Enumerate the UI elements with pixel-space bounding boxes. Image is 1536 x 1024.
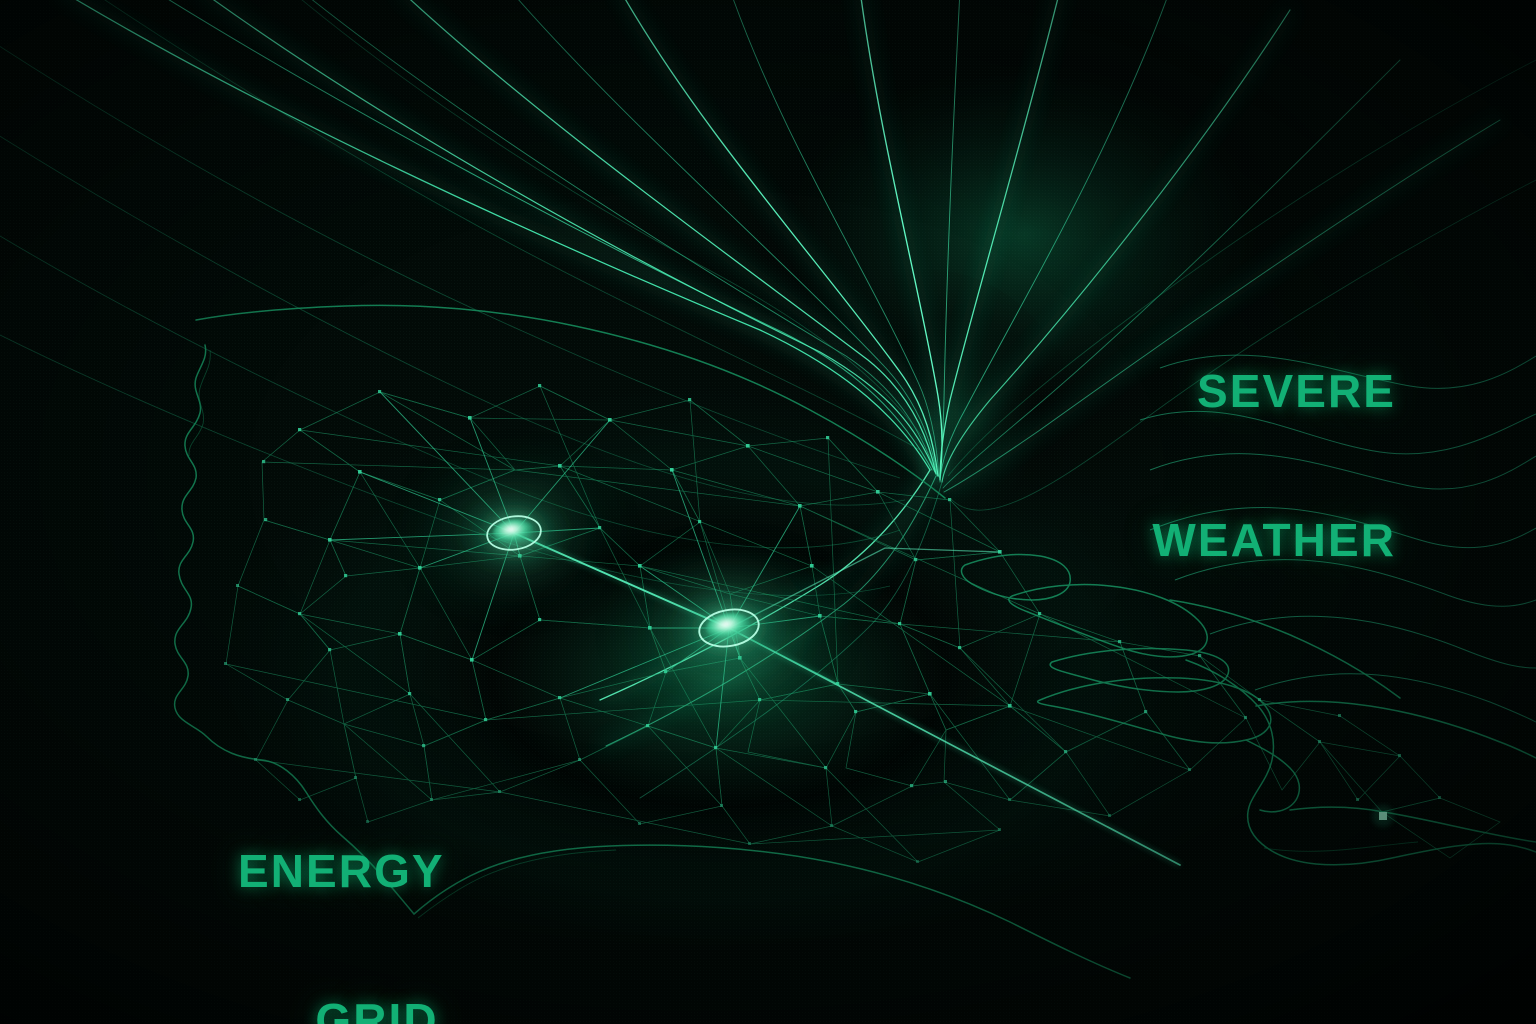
hub-node-b[interactable] [617,548,841,708]
label-severe-weather: SEVERE WEATHER [1152,268,1396,665]
visualization-canvas: SEVERE WEATHER ENERGY GRID [0,0,1536,1024]
label-severe-weather-line1: SEVERE [1152,367,1396,417]
label-energy-grid-line1: ENERGY [238,847,445,897]
label-energy-grid: ENERGY GRID [238,748,445,1024]
label-severe-weather-line2: WEATHER [1152,516,1396,566]
label-energy-grid-line2: GRID [238,996,445,1024]
hub-node-a[interactable] [410,459,618,607]
